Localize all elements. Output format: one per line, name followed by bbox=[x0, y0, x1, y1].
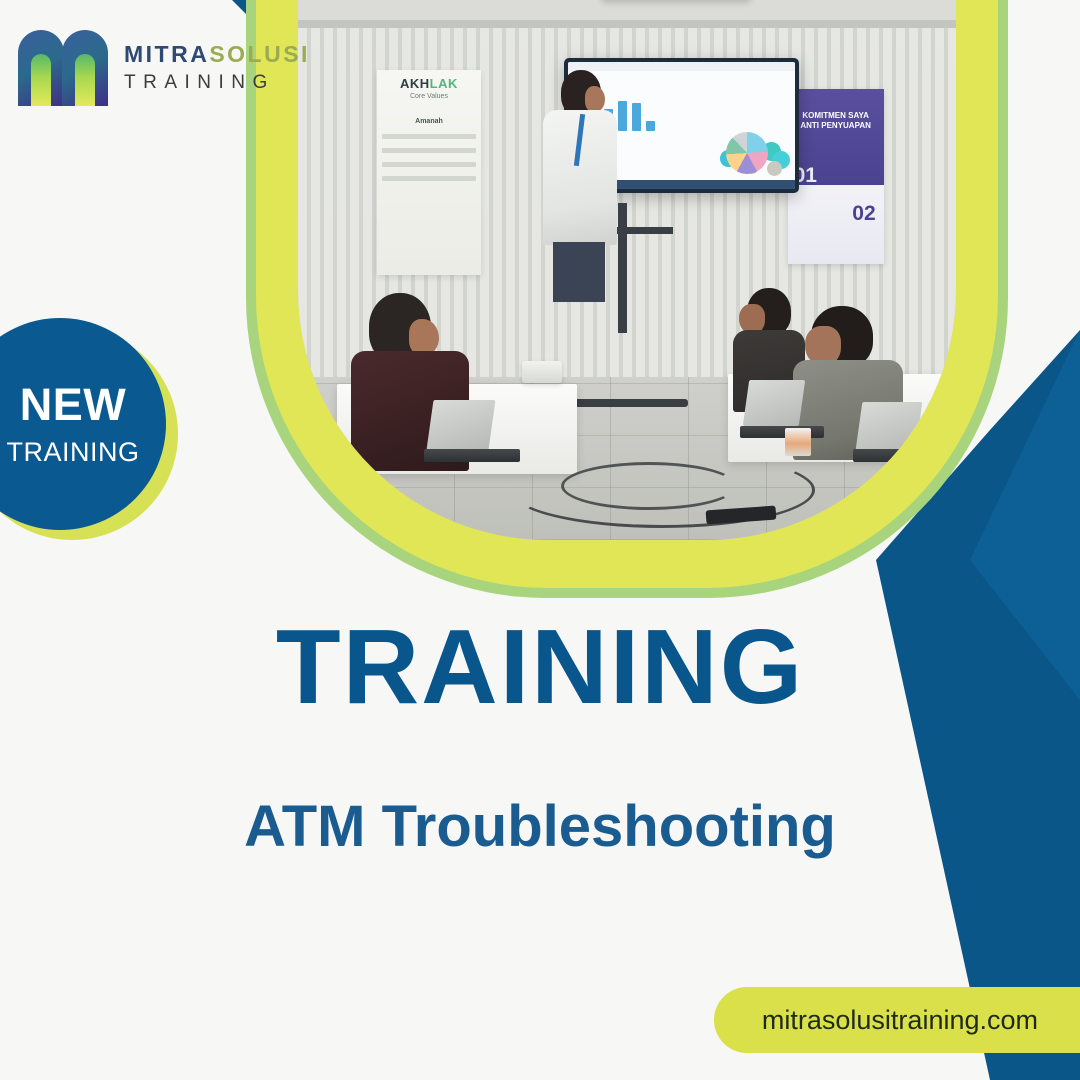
display-stand-foot bbox=[568, 399, 688, 407]
banner-left-title-1: AKH bbox=[400, 76, 430, 91]
logo-arch bbox=[18, 30, 64, 106]
dashboard-pie-chart bbox=[726, 132, 768, 174]
badge-label-new: NEW bbox=[20, 382, 127, 427]
projector-device bbox=[522, 361, 562, 383]
logo-arch bbox=[62, 30, 108, 106]
banner-right-num2: 02 bbox=[852, 201, 875, 227]
blinds-rail bbox=[298, 20, 956, 28]
dashboard-bar bbox=[646, 121, 655, 131]
banner-left-title-2: LAK bbox=[430, 76, 458, 91]
training-room-scene: AKHLAK Core Values Amanah KOMITMEN SAYA … bbox=[298, 0, 956, 540]
presenter-legs bbox=[553, 242, 605, 302]
training-photo: AKHLAK Core Values Amanah KOMITMEN SAYA … bbox=[298, 0, 956, 540]
banner-right-line1: KOMITMEN SAYA bbox=[793, 111, 879, 121]
logo-text-training: TRAINING bbox=[124, 73, 310, 92]
laptop-left bbox=[430, 400, 518, 462]
photo-frame-inner-border: AKHLAK Core Values Amanah KOMITMEN SAYA … bbox=[256, 0, 998, 588]
floor-cables-secondary bbox=[561, 462, 737, 510]
banner-left-item: Amanah bbox=[382, 118, 476, 125]
laptop-base bbox=[740, 426, 824, 438]
logo-wordmark: MITRASOLUSI TRAINING bbox=[124, 43, 310, 92]
banner-left-subtitle: Core Values bbox=[382, 93, 476, 100]
banner-left-row bbox=[382, 162, 476, 167]
laptop-lid bbox=[743, 380, 805, 426]
komitmen-banner: KOMITMEN SAYA ANTI PENYUAPAN 01 02 bbox=[788, 89, 884, 264]
brand-logo[interactable]: MITRASOLUSI TRAINING bbox=[18, 28, 310, 106]
akhlak-banner: AKHLAK Core Values Amanah bbox=[377, 70, 481, 275]
dashboard-bar bbox=[618, 101, 627, 131]
dashboard-bar bbox=[632, 103, 641, 131]
presenter-face bbox=[585, 86, 605, 112]
laptop-lid bbox=[426, 400, 495, 450]
banner-right-line2: ANTI PENYUAPAN bbox=[793, 121, 879, 131]
banner-left-row bbox=[382, 134, 476, 139]
logo-arch-inner bbox=[75, 54, 95, 106]
logo-arch-inner bbox=[31, 54, 51, 106]
banner-left-row bbox=[382, 176, 476, 181]
presenter-standing bbox=[541, 70, 619, 300]
logo-text-mitra: MITRA bbox=[124, 41, 209, 67]
banner-left-row bbox=[382, 148, 476, 153]
dashboard-bubble bbox=[767, 161, 782, 176]
badge-label-training: TRAINING bbox=[6, 439, 139, 466]
page-subtitle: ATM Troubleshooting bbox=[0, 798, 1080, 856]
laptop-base bbox=[853, 449, 943, 462]
participant-face bbox=[409, 319, 439, 355]
tissue-box bbox=[785, 428, 811, 456]
poster-canvas: AKHLAK Core Values Amanah KOMITMEN SAYA … bbox=[0, 0, 1080, 1080]
mitra-solusi-m-mark-icon bbox=[18, 28, 114, 106]
photo-frame-outer-border: AKHLAK Core Values Amanah KOMITMEN SAYA … bbox=[246, 0, 1008, 598]
laptop-base bbox=[424, 449, 520, 462]
page-title: TRAINING bbox=[0, 614, 1080, 720]
laptop-lid bbox=[855, 402, 922, 450]
new-training-badge[interactable]: NEW TRAINING bbox=[0, 318, 210, 538]
laptop-right bbox=[859, 402, 943, 462]
website-url-pill[interactable]: mitrasolusitraining.com bbox=[714, 987, 1080, 1053]
website-url-text: mitrasolusitraining.com bbox=[762, 1005, 1038, 1036]
logo-text-solusi: SOLUSI bbox=[209, 41, 310, 67]
